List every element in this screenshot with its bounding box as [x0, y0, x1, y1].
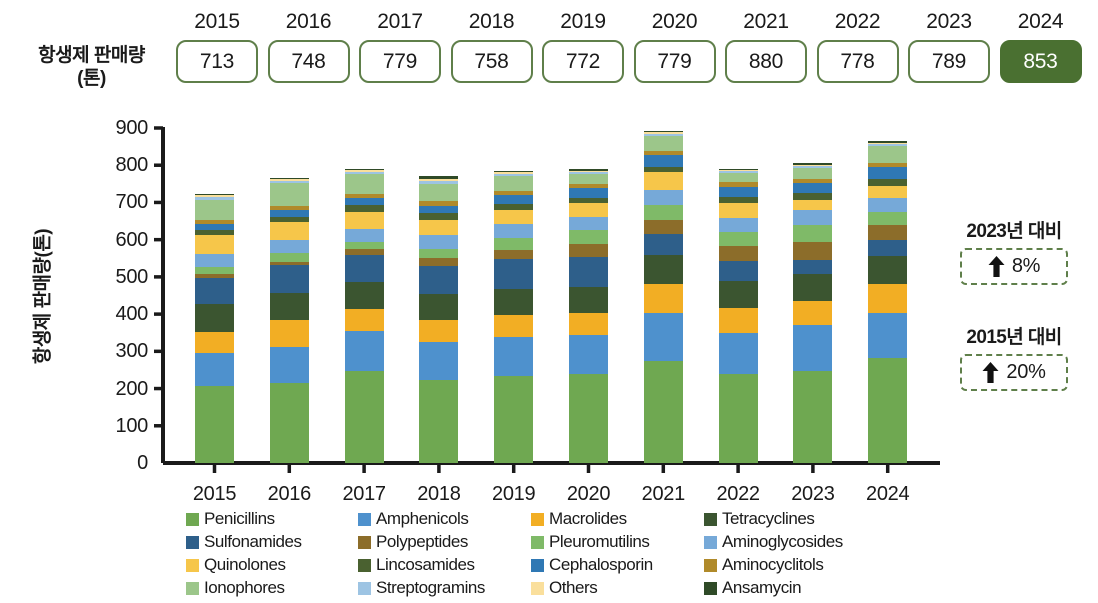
bar-segment-cephalosporin[interactable] [868, 167, 907, 179]
summary-year-label: 2018 [451, 10, 533, 34]
summary-cell-2023: 2023789 [908, 10, 990, 83]
bar-segment-amphenicols[interactable] [419, 342, 458, 380]
summary-value-box: 772 [542, 40, 624, 83]
legend-label: Ansamycin [722, 579, 801, 597]
bar-segment-pleuromutilins[interactable] [345, 242, 384, 249]
summary-year-label: 2015 [176, 10, 258, 34]
legend-swatch-icon [358, 513, 371, 526]
bar-segment-quinolones[interactable] [270, 222, 309, 241]
bar-column-2020[interactable] [569, 169, 608, 463]
axis-lines [0, 108, 1098, 508]
summary-value-box: 779 [634, 40, 716, 83]
summary-year-label: 2021 [725, 10, 807, 34]
bar-segment-macrolides[interactable] [793, 301, 832, 324]
bar-segment-polypeptides[interactable] [868, 225, 907, 240]
bar-segment-pleuromutilins[interactable] [793, 225, 832, 242]
bar-segment-aminoglycosides[interactable] [644, 190, 683, 205]
legend-label: Aminoglycosides [722, 533, 843, 551]
legend-swatch-icon [358, 559, 371, 572]
bar-segment-quinolones[interactable] [719, 203, 758, 218]
x-tick-2024: 2024 [843, 483, 933, 506]
legend-label: Others [549, 579, 597, 597]
bar-column-2016[interactable] [270, 178, 309, 463]
bar-segment-tetracyclines[interactable] [793, 274, 832, 302]
bar-segment-penicillins[interactable] [195, 386, 234, 463]
bar-segment-sulfonamides[interactable] [270, 265, 309, 292]
bar-segment-macrolides[interactable] [345, 309, 384, 331]
legend-item-macrolides[interactable]: Macrolides [531, 508, 627, 530]
bar-segment-tetracyclines[interactable] [644, 255, 683, 284]
bar-segment-macrolides[interactable] [644, 284, 683, 313]
legend-label: Amphenicols [376, 510, 468, 528]
bar-segment-aminoglycosides[interactable] [270, 240, 309, 253]
bar-segment-penicillins[interactable] [644, 361, 683, 463]
bar-segment-aminoglycosides[interactable] [195, 254, 234, 267]
bar-segment-quinolones[interactable] [494, 210, 533, 225]
bar-segment-aminoglycosides[interactable] [494, 224, 533, 238]
bar-segment-ionophores[interactable] [494, 176, 533, 192]
bar-segment-pleuromutilins[interactable] [494, 238, 533, 250]
bar-segment-penicillins[interactable] [719, 374, 758, 463]
bar-segment-polypeptides[interactable] [569, 244, 608, 257]
legend-swatch-icon [704, 582, 717, 595]
bar-segment-cephalosporin[interactable] [419, 206, 458, 213]
legend: PenicillinsAmphenicolsMacrolidesTetracyc… [186, 508, 946, 600]
arrow-up-icon [982, 362, 999, 383]
bar-segment-ionophores[interactable] [419, 184, 458, 202]
bar-segment-sulfonamides[interactable] [345, 255, 384, 282]
bar-segment-sulfonamides[interactable] [195, 278, 234, 304]
bar-column-2022[interactable] [719, 169, 758, 463]
callout-box: 20% [960, 354, 1068, 391]
bar-segment-amphenicols[interactable] [195, 353, 234, 386]
bar-segment-lincosamides[interactable] [868, 179, 907, 186]
arrow-up-icon [988, 256, 1005, 277]
legend-swatch-icon [358, 582, 371, 595]
legend-swatch-icon [186, 582, 199, 595]
bar-segment-polypeptides[interactable] [419, 258, 458, 266]
bar-column-2021[interactable] [644, 131, 683, 463]
legend-swatch-icon [186, 536, 199, 549]
bar-column-2017[interactable] [345, 169, 384, 463]
bar-segment-cephalosporin[interactable] [644, 155, 683, 167]
summary-row-label-main: 항생제 판매량 [38, 45, 145, 66]
bar-segment-ionophores[interactable] [868, 146, 907, 163]
summary-value-box: 713 [176, 40, 258, 83]
bar-segment-macrolides[interactable] [195, 332, 234, 352]
bar-segment-pleuromutilins[interactable] [868, 212, 907, 225]
bar-segment-ionophores[interactable] [195, 200, 234, 220]
legend-item-ansamycin[interactable]: Ansamycin [704, 577, 801, 599]
callout-title: 2015년 대비 [938, 326, 1090, 349]
bar-segment-lincosamides[interactable] [419, 213, 458, 220]
callout-title: 2023년 대비 [938, 220, 1090, 243]
bar-segment-aminoglycosides[interactable] [345, 229, 384, 243]
summary-row-label-unit: (톤) [14, 67, 169, 90]
bar-segment-pleuromutilins[interactable] [644, 205, 683, 220]
bar-segment-macrolides[interactable] [270, 320, 309, 347]
legend-swatch-icon [704, 513, 717, 526]
legend-label: Aminocyclitols [722, 556, 823, 574]
summary-year-label: 2017 [359, 10, 441, 34]
legend-item-aminocyclitols[interactable]: Aminocyclitols [704, 554, 823, 576]
legend-swatch-icon [531, 582, 544, 595]
legend-item-amphenicols[interactable]: Amphenicols [358, 508, 468, 530]
bar-segment-sulfonamides[interactable] [793, 260, 832, 274]
summary-cell-2019: 2019772 [542, 10, 624, 83]
bar-segment-macrolides[interactable] [719, 308, 758, 333]
legend-label: Cephalosporin [549, 556, 653, 574]
bar-segment-polypeptides[interactable] [644, 220, 683, 235]
bar-segment-tetracyclines[interactable] [719, 281, 758, 309]
bar-segment-penicillins[interactable] [868, 358, 907, 463]
bar-segment-pleuromutilins[interactable] [419, 249, 458, 258]
legend-label: Penicillins [204, 510, 275, 528]
summary-row-label: 항생제 판매량 (톤) [14, 44, 169, 90]
legend-item-ionophores[interactable]: Ionophores [186, 577, 285, 599]
bar-column-2018[interactable] [419, 176, 458, 463]
legend-item-penicillins[interactable]: Penicillins [186, 508, 275, 530]
bar-segment-tetracyclines[interactable] [195, 304, 234, 333]
callout-value: 20% [1006, 361, 1045, 384]
legend-swatch-icon [186, 559, 199, 572]
bar-segment-quinolones[interactable] [419, 220, 458, 236]
bar-segment-sulfonamides[interactable] [419, 266, 458, 294]
bar-segment-quinolones[interactable] [345, 212, 384, 229]
legend-label: Ionophores [204, 579, 285, 597]
bar-segment-pleuromutilins[interactable] [719, 232, 758, 246]
bar-segment-amphenicols[interactable] [494, 337, 533, 376]
bar-segment-ionophores[interactable] [644, 136, 683, 151]
summary-value-box: 778 [817, 40, 899, 83]
summary-year-label: 2022 [817, 10, 899, 34]
summary-value-box: 779 [359, 40, 441, 83]
bar-segment-amphenicols[interactable] [569, 335, 608, 374]
bar-segment-amphenicols[interactable] [644, 313, 683, 361]
bar-segment-tetracyclines[interactable] [345, 282, 384, 309]
legend-swatch-icon [531, 513, 544, 526]
bar-segment-macrolides[interactable] [419, 320, 458, 342]
bar-segment-polypeptides[interactable] [494, 250, 533, 260]
legend-label: Quinolones [204, 556, 286, 574]
bar-segment-ionophores[interactable] [719, 173, 758, 183]
summary-value-box: 853 [1000, 40, 1082, 83]
summary-cell-2021: 2021880 [725, 10, 807, 83]
bar-segment-polypeptides[interactable] [793, 242, 832, 260]
bar-segment-penicillins[interactable] [345, 371, 384, 463]
bar-segment-penicillins[interactable] [419, 380, 458, 463]
summary-cell-2022: 2022778 [817, 10, 899, 83]
bar-segment-amphenicols[interactable] [868, 313, 907, 358]
summary-cell-2018: 2018758 [451, 10, 533, 83]
legend-label: Pleuromutilins [549, 533, 649, 551]
bar-segment-sulfonamides[interactable] [719, 261, 758, 280]
legend-item-sulfonamides[interactable]: Sulfonamides [186, 531, 302, 553]
bar-segment-pleuromutilins[interactable] [195, 267, 234, 274]
legend-item-others[interactable]: Others [531, 577, 597, 599]
legend-swatch-icon [186, 513, 199, 526]
summary-cell-2024: 2024853 [1000, 10, 1082, 83]
bar-segment-macrolides[interactable] [569, 313, 608, 335]
bar-segment-quinolones[interactable] [868, 186, 907, 198]
legend-label: Streptogramins [376, 579, 485, 597]
bar-segment-penicillins[interactable] [270, 383, 309, 463]
summary-value-box: 789 [908, 40, 990, 83]
bar-segment-quinolones[interactable] [644, 172, 683, 190]
bar-segment-tetracyclines[interactable] [494, 289, 533, 315]
legend-swatch-icon [704, 559, 717, 572]
bar-segment-cephalosporin[interactable] [793, 183, 832, 193]
bar-segment-cephalosporin[interactable] [719, 187, 758, 197]
summary-value-box: 880 [725, 40, 807, 83]
bar-segment-pleuromutilins[interactable] [270, 253, 309, 261]
summary-cell-2016: 2016748 [268, 10, 350, 83]
bar-segment-sulfonamides[interactable] [569, 257, 608, 287]
bar-segment-ionophores[interactable] [569, 174, 608, 184]
bar-column-2023[interactable] [793, 163, 832, 463]
legend-swatch-icon [704, 536, 717, 549]
summary-value-box: 758 [451, 40, 533, 83]
bar-segment-tetracyclines[interactable] [270, 293, 309, 321]
bar-segment-ionophores[interactable] [270, 183, 309, 206]
legend-label: Macrolides [549, 510, 627, 528]
bar-segment-cephalosporin[interactable] [569, 188, 608, 198]
legend-label: Tetracyclines [722, 510, 814, 528]
bar-segment-tetracyclines[interactable] [868, 256, 907, 284]
callout-1: 2023년 대비8% [938, 220, 1090, 285]
legend-item-tetracyclines[interactable]: Tetracyclines [704, 508, 814, 530]
bar-segment-polypeptides[interactable] [719, 246, 758, 261]
bar-segment-amphenicols[interactable] [270, 347, 309, 383]
bar-segment-penicillins[interactable] [793, 371, 832, 463]
bar-segment-tetracyclines[interactable] [419, 294, 458, 320]
bar-segment-ionophores[interactable] [793, 168, 832, 179]
legend-item-quinolones[interactable]: Quinolones [186, 554, 286, 576]
summary-year-label: 2024 [1000, 10, 1082, 34]
callout-value: 8% [1012, 255, 1040, 278]
bar-segment-penicillins[interactable] [569, 374, 608, 463]
legend-swatch-icon [531, 536, 544, 549]
bar-segment-ionophores[interactable] [345, 174, 384, 194]
callout-box: 8% [960, 248, 1068, 285]
legend-item-pleuromutilins[interactable]: Pleuromutilins [531, 531, 649, 553]
bar-segment-quinolones[interactable] [195, 235, 234, 254]
summary-value-box: 748 [268, 40, 350, 83]
bar-segment-penicillins[interactable] [494, 376, 533, 463]
legend-item-aminoglycosides[interactable]: Aminoglycosides [704, 531, 843, 553]
bar-segment-pleuromutilins[interactable] [569, 230, 608, 244]
bar-column-2024[interactable] [868, 141, 907, 463]
legend-swatch-icon [358, 536, 371, 549]
summary-year-label: 2019 [542, 10, 624, 34]
bar-segment-quinolones[interactable] [793, 200, 832, 211]
bar-segment-cephalosporin[interactable] [345, 198, 384, 205]
bar-segment-aminoglycosides[interactable] [719, 218, 758, 232]
bar-segment-amphenicols[interactable] [719, 333, 758, 374]
summary-cell-2017: 2017779 [359, 10, 441, 83]
summary-cell-2015: 2015713 [176, 10, 258, 83]
summary-year-label: 2016 [268, 10, 350, 34]
summary-year-label: 2020 [634, 10, 716, 34]
summary-year-label: 2023 [908, 10, 990, 34]
bar-column-2019[interactable] [494, 171, 533, 463]
summary-cell-2020: 2020779 [634, 10, 716, 83]
chart-area: 항생제 판매량(톤) 0100200300400500600700800900 … [0, 108, 1098, 508]
bar-segment-amphenicols[interactable] [793, 325, 832, 371]
bar-segment-sulfonamides[interactable] [868, 240, 907, 256]
legend-swatch-icon [531, 559, 544, 572]
bar-segment-aminoglycosides[interactable] [419, 235, 458, 249]
legend-label: Sulfonamides [204, 533, 302, 551]
callout-2: 2015년 대비20% [938, 326, 1090, 391]
bar-segment-quinolones[interactable] [569, 203, 608, 218]
legend-label: Polypeptides [376, 533, 468, 551]
bar-segment-aminoglycosides[interactable] [569, 217, 608, 230]
bar-segment-tetracyclines[interactable] [569, 287, 608, 313]
legend-item-cephalosporin[interactable]: Cephalosporin [531, 554, 653, 576]
bar-segment-aminoglycosides[interactable] [793, 210, 832, 225]
legend-label: Lincosamides [376, 556, 475, 574]
bar-segment-amphenicols[interactable] [345, 331, 384, 371]
bar-segment-cephalosporin[interactable] [494, 195, 533, 204]
bar-column-2015[interactable] [195, 194, 234, 463]
bar-segment-sulfonamides[interactable] [494, 259, 533, 288]
legend-item-streptogramins[interactable]: Streptogramins [358, 577, 485, 599]
summary-strip: 항생제 판매량 (톤) 2015713201674820177792018758… [0, 0, 1098, 108]
bar-segment-macrolides[interactable] [494, 315, 533, 337]
bar-segment-aminoglycosides[interactable] [868, 198, 907, 212]
bar-segment-sulfonamides[interactable] [644, 234, 683, 254]
legend-item-polypeptides[interactable]: Polypeptides [358, 531, 468, 553]
bar-segment-lincosamides[interactable] [719, 197, 758, 204]
bar-segment-macrolides[interactable] [868, 284, 907, 313]
legend-item-lincosamides[interactable]: Lincosamides [358, 554, 475, 576]
